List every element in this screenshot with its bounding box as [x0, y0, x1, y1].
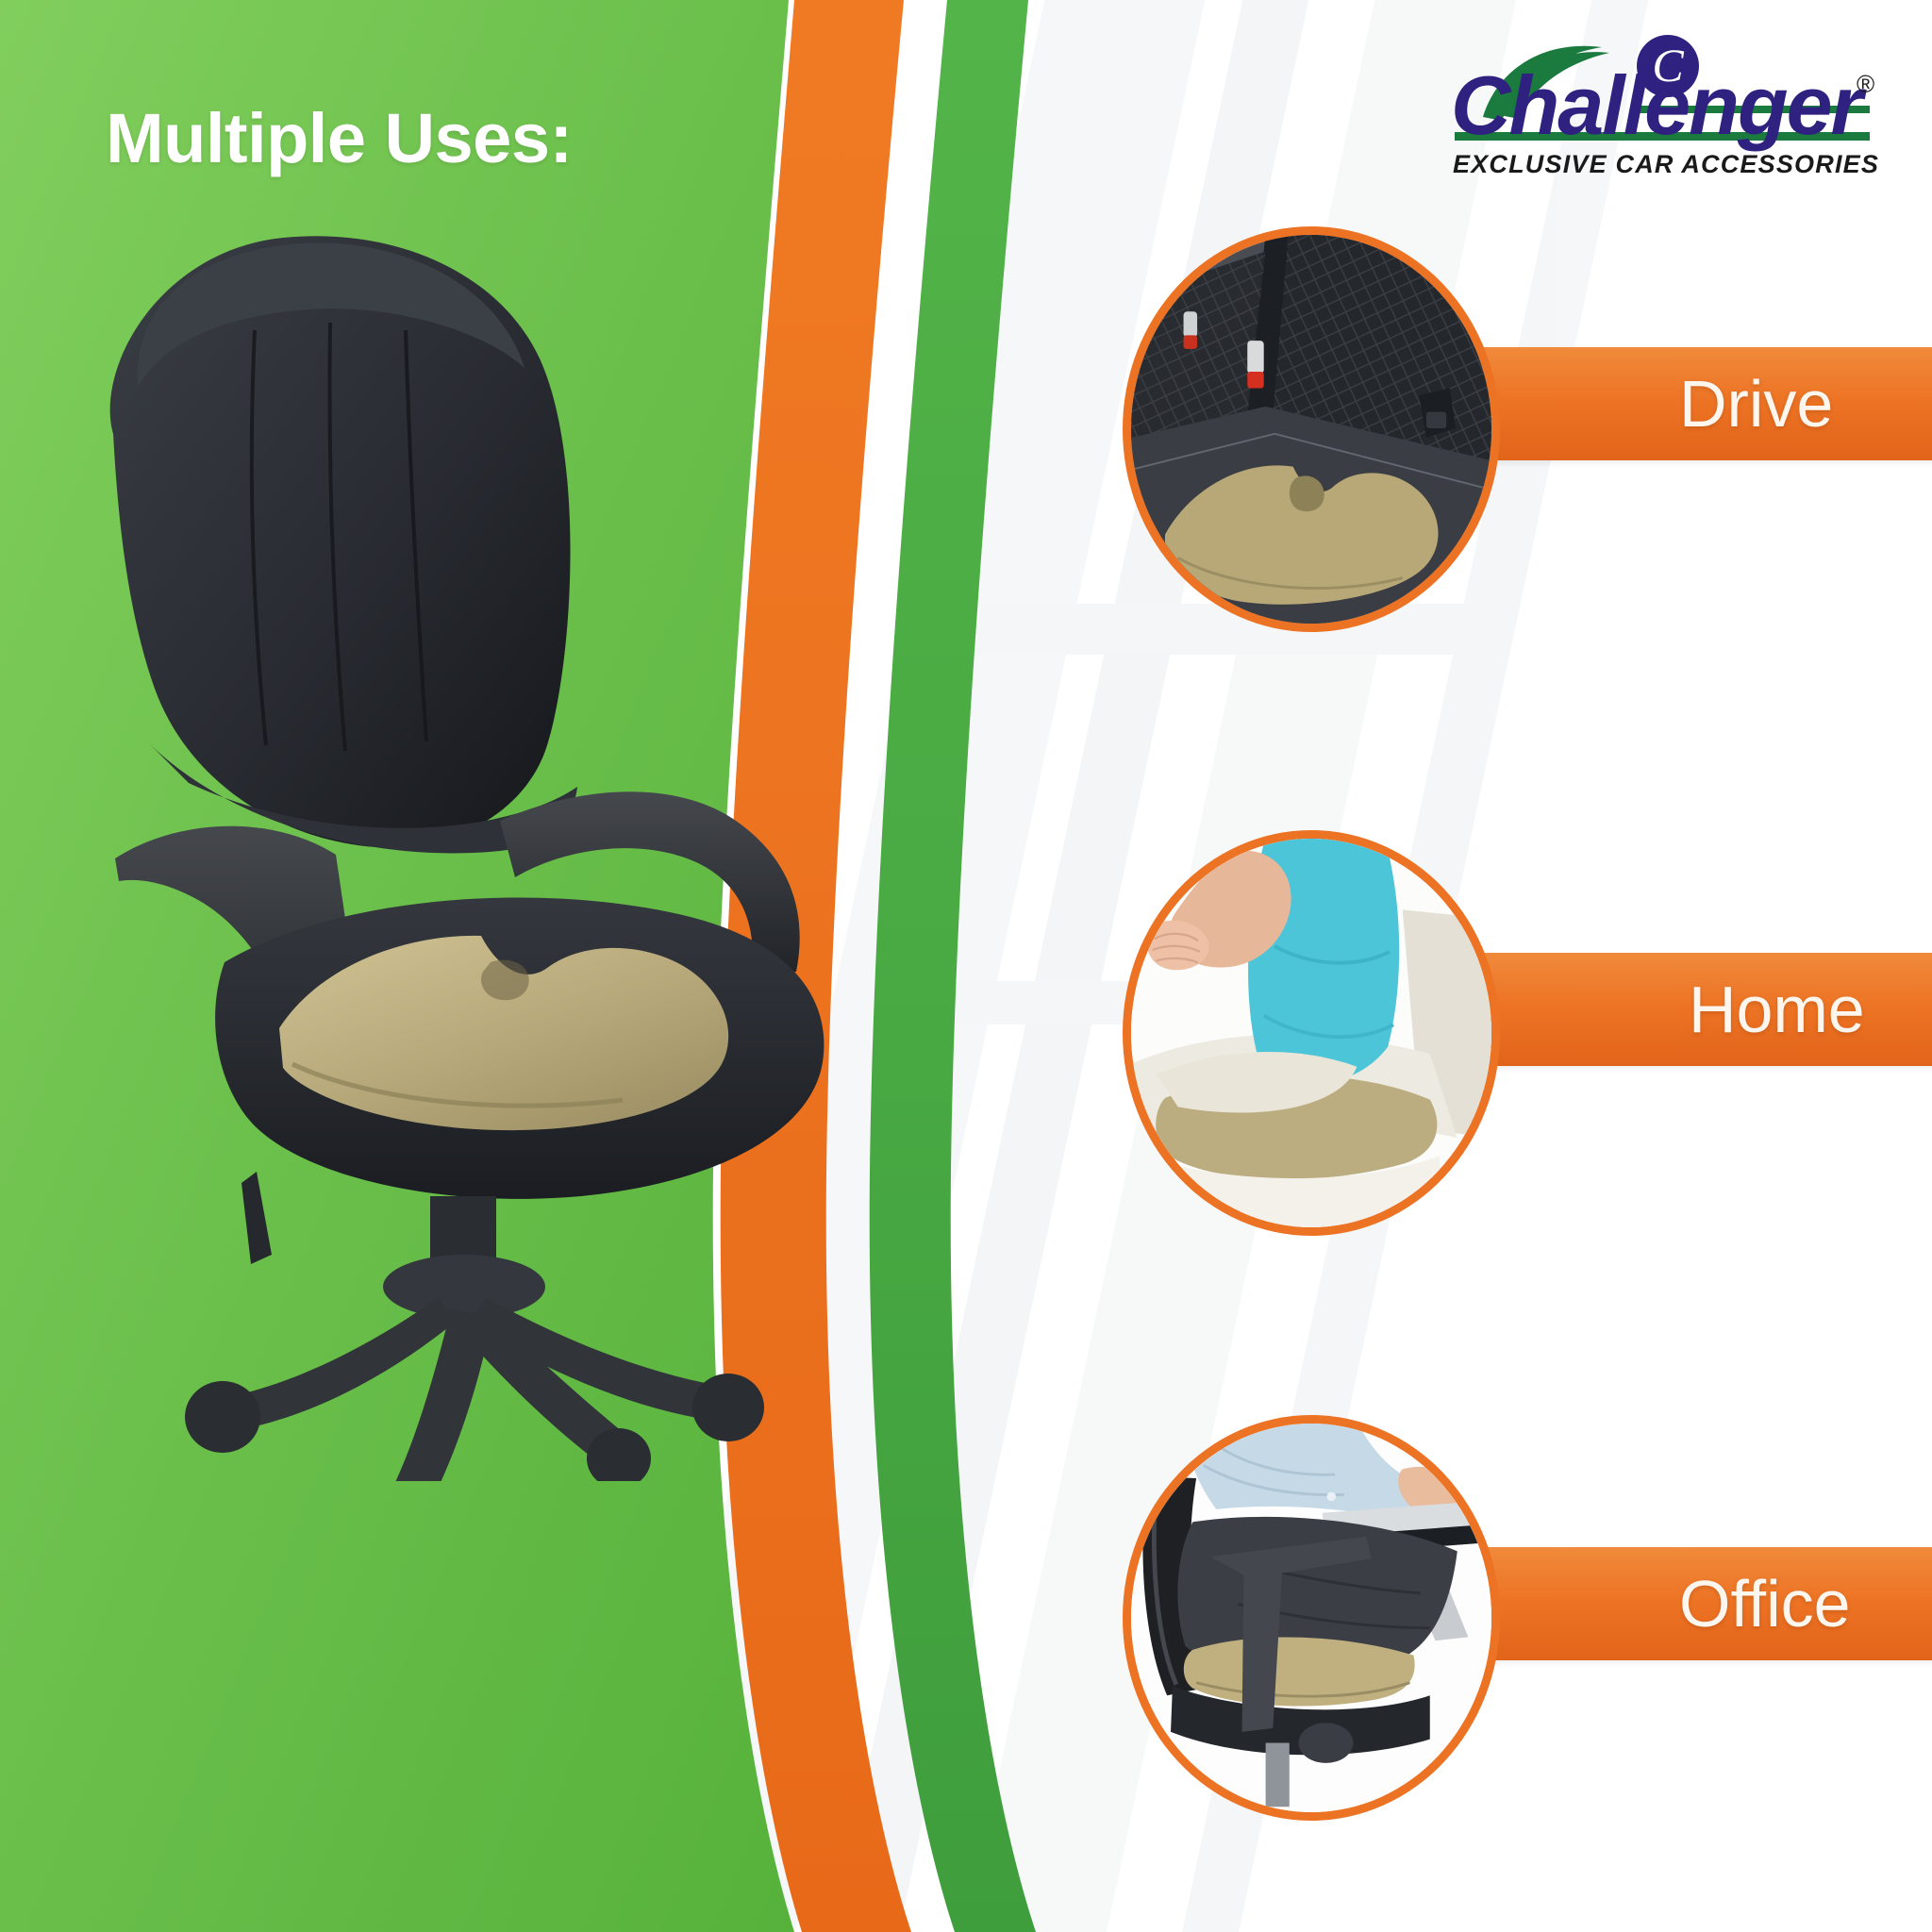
- use-case-photo-home: [1123, 830, 1500, 1236]
- brand-logo: C Challenger ® EXCLUSIVE CAR ACCESSORIES: [1443, 26, 1887, 185]
- use-case-photo-drive: [1123, 226, 1500, 632]
- use-case-home: Home: [1123, 830, 1932, 1236]
- car-back-seat-with-cushion-photo: [1129, 233, 1493, 625]
- use-case-drive: Drive: [1123, 226, 1932, 632]
- use-case-photo-office: [1123, 1415, 1500, 1821]
- man-at-desk-on-office-chair-photo: [1129, 1422, 1493, 1814]
- chair-base-hub: [383, 1255, 545, 1319]
- page-title: Multiple Uses:: [106, 98, 573, 178]
- logo-wordmark: Challenger: [1451, 58, 1868, 152]
- woman-sitting-on-cushion-photo: [1129, 837, 1493, 1229]
- product-photo: [57, 217, 906, 1481]
- registered-icon: ®: [1857, 70, 1874, 98]
- logo-tagline: EXCLUSIVE CAR ACCESSORIES: [1453, 150, 1879, 178]
- use-case-label-home: Home: [1689, 976, 1865, 1042]
- cushion-coccyx-cutout: [481, 960, 529, 1001]
- use-case-office: Office: [1123, 1415, 1932, 1821]
- chair-height-lever: [241, 1172, 272, 1264]
- use-case-label-drive: Drive: [1679, 371, 1833, 437]
- promo-graphic: Multiple Uses: C Challenger ® EXCLUSIVE …: [0, 0, 1932, 1932]
- use-case-label-office: Office: [1679, 1571, 1851, 1637]
